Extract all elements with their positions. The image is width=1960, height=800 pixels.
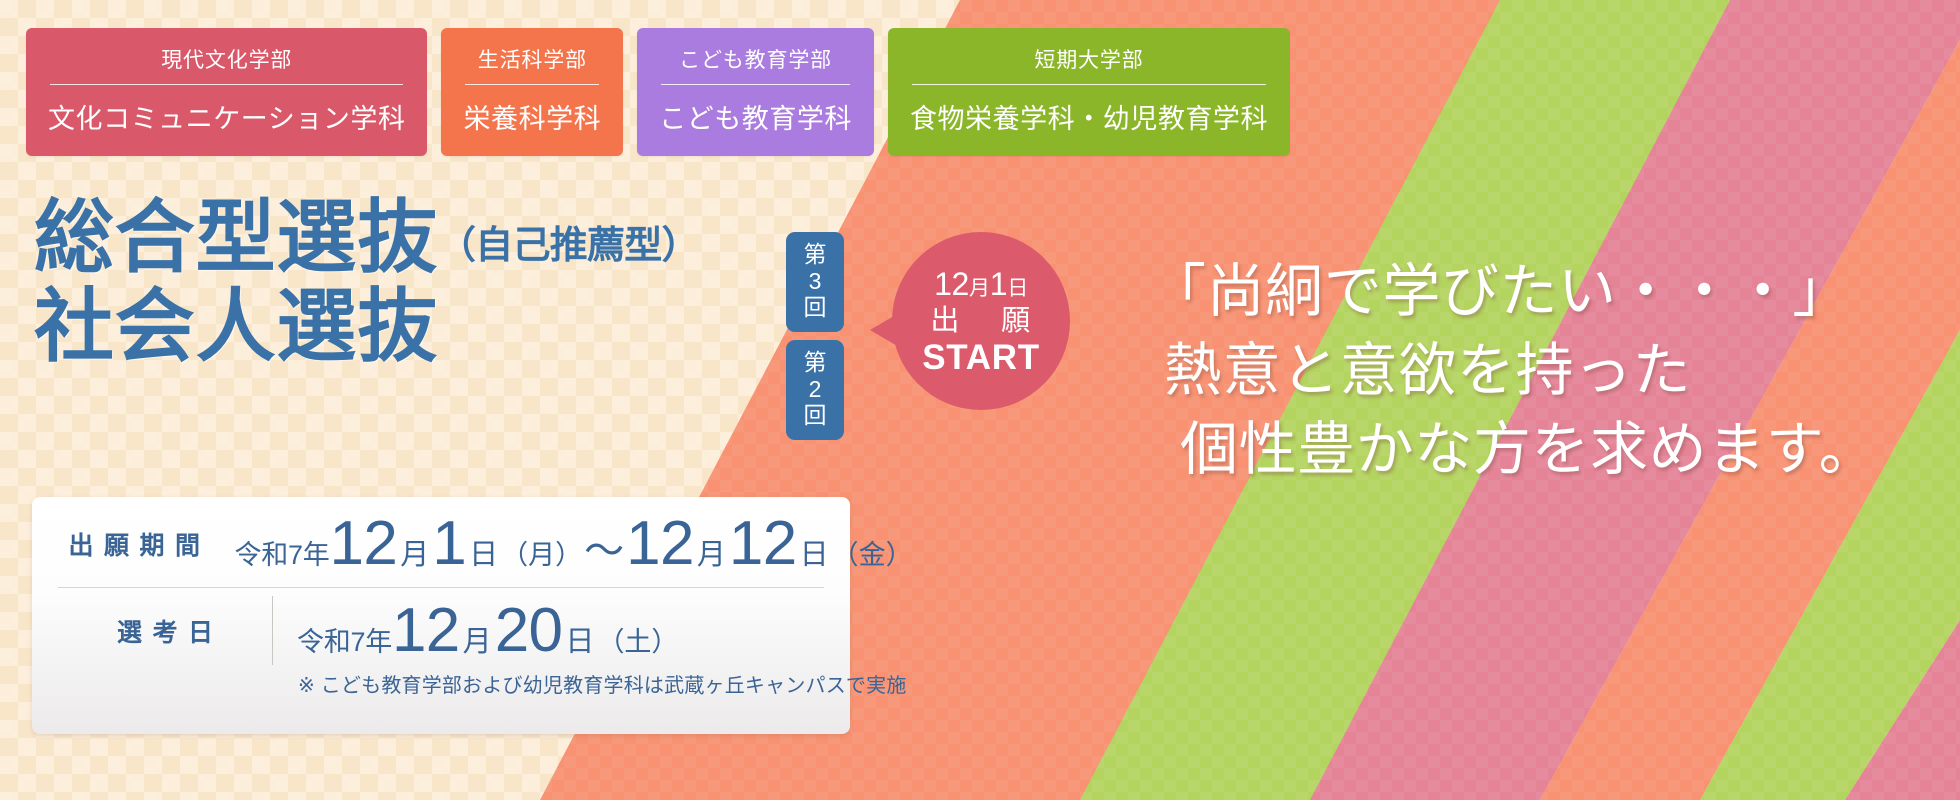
row-value-selection-date: 令和7年 12 月 20 日 （土） — [273, 600, 824, 662]
start-day: 1 — [432, 513, 466, 575]
end-month-unit: 月 — [694, 531, 729, 573]
faculty-card-seikatsu-kagaku[interactable]: 生活科学部 栄養科学科 — [441, 28, 623, 156]
selection-month: 12 — [392, 600, 460, 662]
faculty-name: 現代文化学部 — [48, 44, 405, 84]
faculty-name: 生活科学部 — [463, 44, 601, 84]
row-label-application-period: 出願期間 — [58, 526, 211, 562]
admissions-banner: 現代文化学部 文化コミュニケーション学科 生活科学部 栄養科学科 こども教育学部… — [0, 0, 1960, 800]
row-label-selection-date: 選考日 — [58, 613, 272, 649]
faculty-name: こども教育学部 — [659, 44, 852, 84]
start-month-unit: 月 — [397, 531, 432, 573]
schedule-row-application-period: 出願期間 令和7年 12 月 1 日 （月） ～ 12 月 12 日 （金） — [58, 501, 824, 587]
selection-day: 20 — [495, 600, 563, 662]
bubble-apply-label: 出 願 — [930, 307, 1036, 336]
card-divider — [661, 84, 850, 85]
badge-number: 3 — [786, 268, 844, 295]
card-divider — [465, 84, 599, 85]
bubble-day-unit: 日 — [1007, 277, 1028, 300]
selection-month-unit: 月 — [460, 618, 495, 660]
end-day: 12 — [729, 513, 797, 575]
faculty-card-gendai-bunka[interactable]: 現代文化学部 文化コミュニケーション学科 — [26, 28, 427, 156]
bubble-date-line: 12月1日 — [934, 268, 1028, 300]
headline-row-1: 総合型選抜 （自己推薦型） — [34, 196, 699, 281]
card-divider — [912, 84, 1266, 85]
round-badge-2: 第 2 回 — [786, 340, 844, 440]
headline-parenthetical: （自己推薦型） — [438, 214, 699, 281]
headline-secondary: 社会人選抜 — [34, 285, 699, 370]
era-year: 令和7年 — [297, 620, 392, 659]
selection-day-of-week: （土） — [597, 620, 678, 659]
headline-primary: 総合型選抜 — [34, 196, 438, 281]
badge-number: 2 — [786, 376, 844, 403]
badge-suffix: 回 — [786, 402, 844, 429]
speech-bubble-body: 12月1日 出 願 START — [892, 232, 1070, 410]
start-day-of-week: （月） — [501, 533, 582, 572]
bubble-start-label: START — [922, 340, 1040, 375]
selection-day-unit: 日 — [562, 618, 597, 660]
round-badge-list: 第 3 回 第 2 回 — [786, 232, 844, 440]
promo-copy-block: 「尚絅で学びたい・・・」 熱意と意欲を持った 個性豊かな方を求めます。 — [1148, 253, 1877, 490]
end-month: 12 — [626, 513, 694, 575]
start-speech-bubble: 12月1日 出 願 START — [870, 232, 1070, 432]
badge-suffix: 回 — [786, 294, 844, 321]
schedule-footnote: ※ こども教育学部および幼児教育学科は武蔵ヶ丘キャンパスで実施 — [58, 669, 824, 698]
start-day-unit: 日 — [466, 531, 501, 573]
department-name: こども教育学科 — [659, 97, 852, 136]
faculty-name: 短期大学部 — [910, 44, 1268, 84]
faculty-card-kodomo-kyoiku[interactable]: こども教育学部 こども教育学科 — [637, 28, 874, 156]
start-month: 12 — [329, 513, 397, 575]
promo-copy-line-1: 「尚絅で学びたい・・・」 — [1148, 253, 1877, 332]
range-separator: ～ — [582, 518, 626, 576]
department-name: 栄養科学科 — [463, 97, 601, 136]
round-badge-3: 第 3 回 — [786, 232, 844, 332]
badge-prefix: 第 — [786, 241, 844, 268]
schedule-row-selection-date: 選考日 令和7年 12 月 20 日 （土） — [58, 587, 824, 673]
end-day-unit: 日 — [797, 531, 832, 573]
bubble-month: 12 — [934, 266, 969, 302]
bubble-month-unit: 月 — [969, 277, 990, 300]
faculty-card-list: 現代文化学部 文化コミュニケーション学科 生活科学部 栄養科学科 こども教育学部… — [26, 28, 1290, 156]
department-name: 食物栄養学科・幼児教育学科 — [910, 97, 1268, 136]
department-name: 文化コミュニケーション学科 — [48, 97, 405, 136]
promo-copy-line-2: 熱意と意欲を持った — [1148, 332, 1877, 411]
end-day-of-week: （金） — [832, 533, 913, 572]
card-divider — [50, 84, 403, 85]
faculty-card-tanki-daigaku[interactable]: 短期大学部 食物栄養学科・幼児教育学科 — [888, 28, 1290, 156]
badge-prefix: 第 — [786, 349, 844, 376]
headline-block: 総合型選抜 （自己推薦型） 社会人選抜 — [34, 196, 699, 370]
era-year: 令和7年 — [235, 533, 330, 572]
bubble-day: 1 — [990, 266, 1007, 302]
promo-copy-line-3: 個性豊かな方を求めます。 — [1148, 411, 1877, 490]
row-value-application-period: 令和7年 12 月 1 日 （月） ～ 12 月 12 日 （金） — [211, 513, 913, 576]
schedule-panel: 出願期間 令和7年 12 月 1 日 （月） ～ 12 月 12 日 （金） 選… — [32, 497, 850, 734]
